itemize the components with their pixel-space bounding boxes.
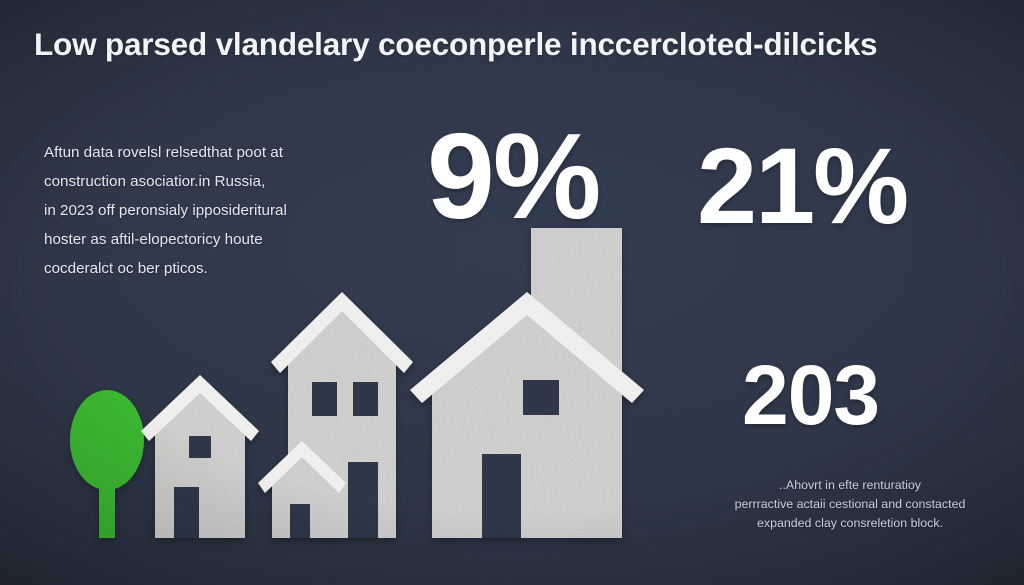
stat-secondary-value: 21% — [697, 135, 907, 238]
body-line: cocderalct oc ber pticos. — [44, 254, 374, 283]
caption-line: perrractive actaii cestional and constac… — [690, 495, 1010, 514]
body-line: construction asociatior.in Russia, — [44, 167, 374, 196]
large-house — [410, 228, 644, 538]
body-line: Aftun data rovelsl relsedthat poot at — [44, 138, 374, 167]
stat-tertiary-value: 203 — [742, 356, 879, 436]
page-title: Low parsed vlandelary coeconperle inccer… — [34, 26, 996, 63]
caption-line: expanded clay consreletion block. — [690, 514, 1010, 533]
body-paragraph: Aftun data rovelsl relsedthat poot at co… — [44, 138, 374, 283]
body-line: in 2023 off peronsialy ipposideritural — [44, 196, 374, 225]
infographic-canvas: Low parsed vlandelary coeconperle inccer… — [0, 0, 1024, 585]
stat-primary-value: 9% — [427, 119, 599, 235]
tree-icon — [70, 390, 144, 538]
small-house — [141, 375, 259, 538]
caption-line: ..Ahovrt in efte renturatioy — [690, 476, 1010, 495]
body-line: hoster as aftil-elopectoricy houte — [44, 225, 374, 254]
stat-caption: ..Ahovrt in efte renturatioy perrractive… — [690, 476, 1010, 533]
